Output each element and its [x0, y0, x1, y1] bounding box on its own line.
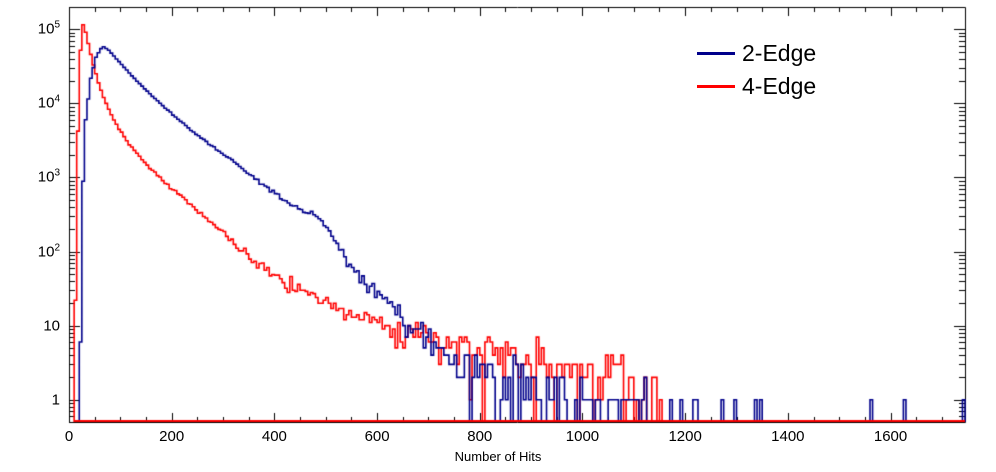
y-tick-label: 104 [38, 96, 60, 111]
x-axis-title: Number of Hits [0, 449, 996, 464]
y-tick-label: 10 [43, 318, 60, 333]
x-tick-label: 800 [467, 429, 492, 444]
x-tick-label: 200 [159, 429, 184, 444]
legend-swatch-2-edge [697, 52, 735, 55]
legend-entry-4-edge[interactable]: 4-Edge [697, 70, 877, 103]
chart-legend: 2-Edge 4-Edge [697, 37, 877, 103]
histogram-plot-root: 02004006008001000120014001600 1101021031… [0, 0, 996, 472]
y-tick-label: 103 [38, 170, 60, 185]
legend-swatch-4-edge [697, 85, 735, 88]
legend-label-4-edge: 4-Edge [742, 75, 816, 98]
x-tick-label: 400 [262, 429, 287, 444]
y-tick-label: 1 [52, 392, 60, 407]
y-tick-label: 105 [38, 22, 60, 37]
x-tick-label: 1000 [566, 429, 599, 444]
legend-entry-2-edge[interactable]: 2-Edge [697, 37, 877, 70]
x-tick-label: 600 [365, 429, 390, 444]
x-tick-label: 1200 [668, 429, 701, 444]
x-tick-label: 1600 [874, 429, 907, 444]
x-tick-label: 1400 [771, 429, 804, 444]
y-tick-label: 102 [38, 244, 60, 259]
x-tick-label: 0 [65, 429, 73, 444]
legend-label-2-edge: 2-Edge [742, 42, 816, 65]
